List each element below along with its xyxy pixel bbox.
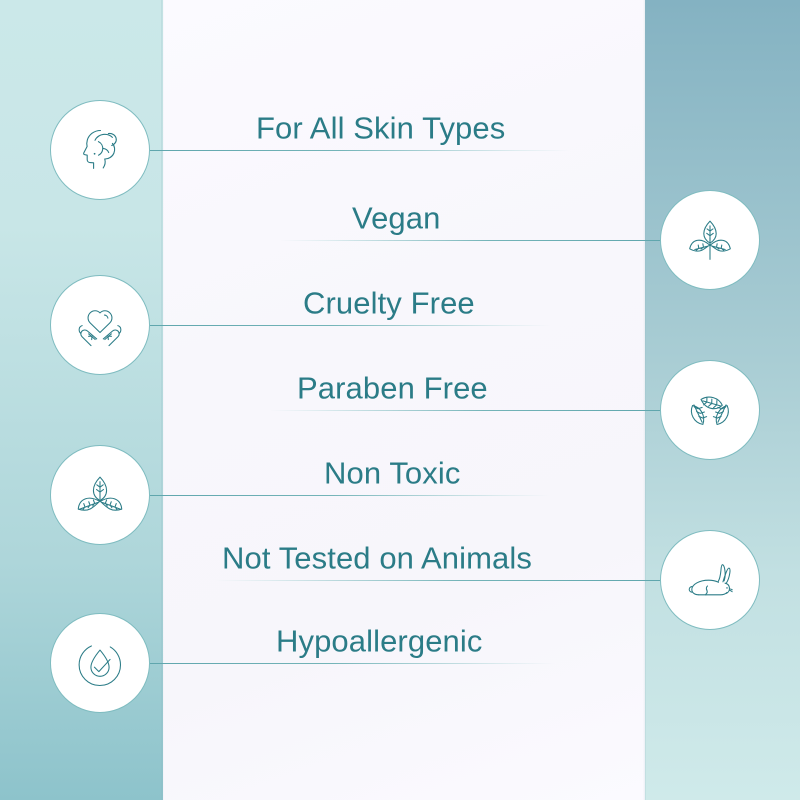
feature-label: Not Tested on Animals [222, 542, 532, 580]
connector-line [150, 495, 550, 496]
woman-face-profile-icon [70, 120, 130, 180]
three-leaves-circle-icon [681, 381, 739, 439]
connector-line [150, 325, 550, 326]
heart-in-hands-icon [71, 296, 129, 354]
rabbit-icon [681, 551, 739, 609]
connector-line [150, 150, 570, 151]
feature-label: Paraben Free [297, 372, 488, 410]
water-drop-check-icon [71, 634, 129, 692]
feature-badge[interactable] [50, 100, 150, 200]
connector-line [215, 580, 660, 581]
leaf-sprig-icon [681, 211, 739, 269]
connector-line [270, 410, 660, 411]
feature-badge[interactable] [50, 613, 150, 713]
feature-label: For All Skin Types [256, 112, 505, 150]
feature-label: Vegan [352, 202, 440, 240]
feature-label: Cruelty Free [303, 287, 475, 325]
leaf-trefoil-icon [71, 466, 129, 524]
feature-label: Non Toxic [324, 457, 460, 495]
feature-label: Hypoallergenic [276, 625, 482, 663]
connector-line [280, 240, 660, 241]
feature-row: Hypoallergenic [0, 613, 800, 713]
feature-row: For All Skin Types [0, 100, 800, 200]
connector-line [150, 663, 555, 664]
infographic-canvas: For All Skin Types Vegan [0, 0, 800, 800]
